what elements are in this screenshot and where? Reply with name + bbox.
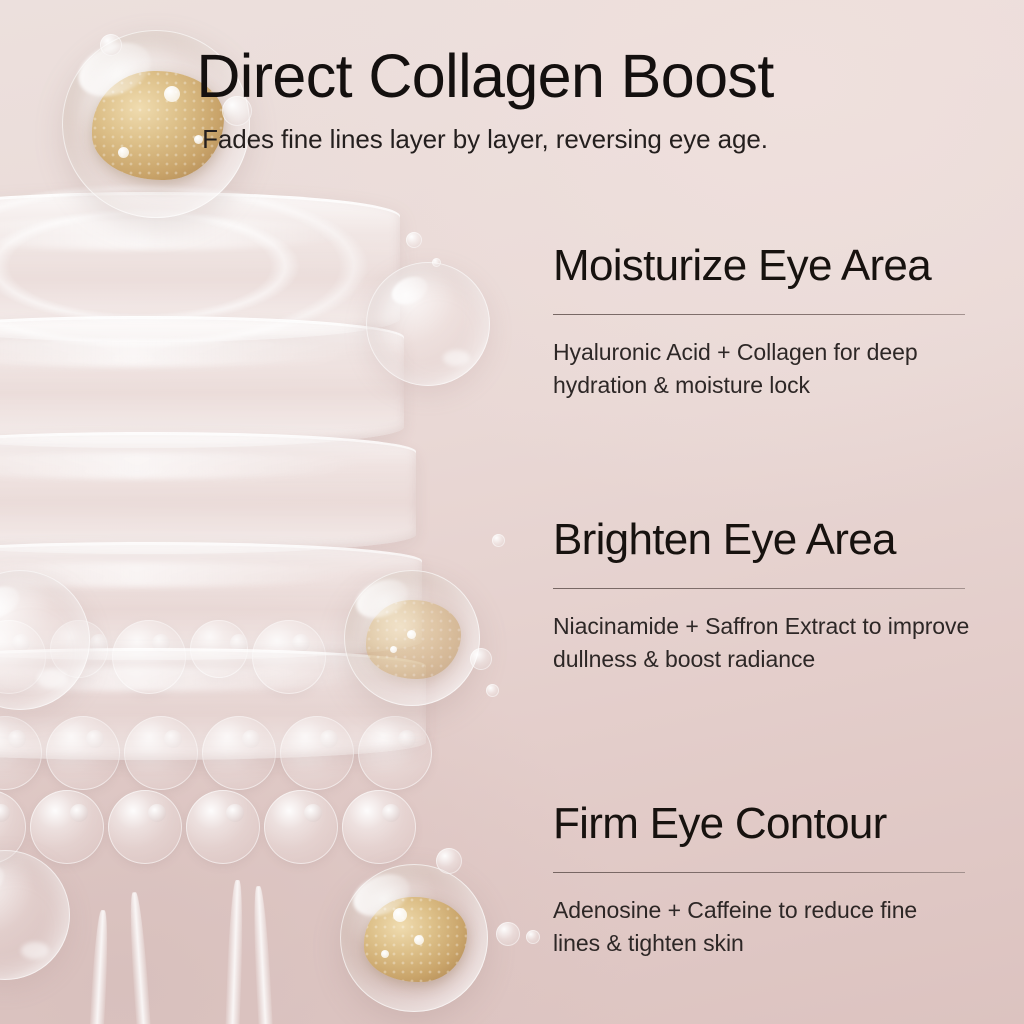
clear-sphere (0, 570, 90, 710)
bubble-dot (381, 950, 389, 958)
bubble-dot (407, 630, 416, 639)
bubble-row (0, 620, 326, 694)
sphere-highlight (443, 350, 470, 366)
gel-disc (0, 192, 400, 342)
sphere-highlight (37, 669, 68, 687)
water-droplet (526, 930, 540, 944)
water-droplet (432, 258, 441, 267)
micro-bubble (0, 716, 42, 790)
micro-bubble (202, 716, 276, 790)
micro-bubble (112, 620, 186, 694)
feature-divider (553, 314, 965, 315)
feature-divider (553, 872, 965, 873)
feature-description-line: Niacinamide + Saffron Extract to improve (553, 610, 968, 643)
clear-sphere (366, 262, 490, 386)
water-droplet (406, 232, 422, 248)
gold-serum-bubble-bottom (340, 864, 488, 1012)
water-droplet (492, 534, 505, 547)
feature-description-line: hydration & moisture lock (553, 369, 968, 402)
micro-bubble (0, 790, 26, 864)
feature-list: Moisturize Eye Area Hyaluronic Acid + Co… (553, 240, 968, 960)
page-subtitle: Fades fine lines layer by layer, reversi… (0, 124, 970, 155)
micro-bubble (0, 620, 46, 694)
sphere-highlight (0, 581, 24, 624)
micro-bubble (50, 620, 108, 678)
micro-bubble (186, 790, 260, 864)
feature-title: Moisturize Eye Area (553, 240, 968, 292)
micro-bubble (124, 716, 198, 790)
bubble-dot (393, 908, 407, 922)
feature-item-firm: Firm Eye Contour Adenosine + Caffeine to… (553, 798, 968, 960)
gel-strand (127, 892, 158, 1024)
sphere-highlight (0, 860, 9, 900)
gold-serum-bubble-middle (344, 570, 480, 706)
sphere-highlight (387, 272, 431, 310)
feature-title: Brighten Eye Area (553, 514, 968, 566)
feature-description-line: Adenosine + Caffeine to reduce fine (553, 894, 968, 927)
header-block: Direct Collagen Boost Fades fine lines l… (0, 44, 1024, 155)
feature-item-brighten: Brighten Eye Area Niacinamide + Saffron … (553, 514, 968, 767)
feature-divider (553, 588, 965, 589)
gel-disc (0, 316, 404, 448)
gel-strand (251, 886, 278, 1024)
feature-description-line: Hyaluronic Acid + Collagen for deep (553, 336, 968, 369)
bubble-dot (390, 646, 397, 653)
water-droplet (496, 922, 520, 946)
water-droplet (470, 648, 492, 670)
feature-description-line: dullness & boost radiance (553, 643, 968, 676)
gel-disc (0, 542, 422, 660)
micro-bubble (108, 790, 182, 864)
clear-sphere (0, 850, 70, 980)
bubble-dot (414, 935, 424, 945)
micro-bubble (342, 790, 416, 864)
sphere-highlight (21, 942, 50, 959)
micro-bubble (46, 716, 120, 790)
water-droplet (486, 684, 499, 697)
micro-bubble (264, 790, 338, 864)
micro-bubble (30, 790, 104, 864)
gel-layer-stack (0, 150, 500, 1024)
gel-strand (221, 880, 244, 1024)
bubble-highlight (347, 866, 416, 924)
water-droplet (436, 848, 462, 874)
bubble-highlight (350, 572, 414, 625)
feature-description: Adenosine + Caffeine to reduce fine line… (553, 894, 968, 960)
micro-bubble (190, 620, 248, 678)
bubble-row (0, 716, 432, 790)
gel-disc (0, 432, 416, 554)
micro-bubble (252, 620, 326, 694)
page-title: Direct Collagen Boost (0, 44, 970, 110)
micro-bubble (358, 716, 432, 790)
ripple-rings (0, 168, 410, 364)
gel-strand (84, 910, 110, 1024)
feature-item-moisturize: Moisturize Eye Area Hyaluronic Acid + Co… (553, 240, 968, 483)
feature-description-line: lines & tighten skin (553, 927, 968, 960)
gel-disc (0, 648, 426, 760)
bubble-row (0, 790, 416, 864)
product-infographic-poster: Direct Collagen Boost Fades fine lines l… (0, 0, 1024, 1024)
feature-title: Firm Eye Contour (553, 798, 968, 850)
serum-core (364, 897, 468, 983)
feature-description: Niacinamide + Saffron Extract to improve… (553, 610, 968, 676)
serum-core (366, 600, 461, 679)
feature-description: Hyaluronic Acid + Collagen for deep hydr… (553, 336, 968, 402)
micro-bubble (280, 716, 354, 790)
